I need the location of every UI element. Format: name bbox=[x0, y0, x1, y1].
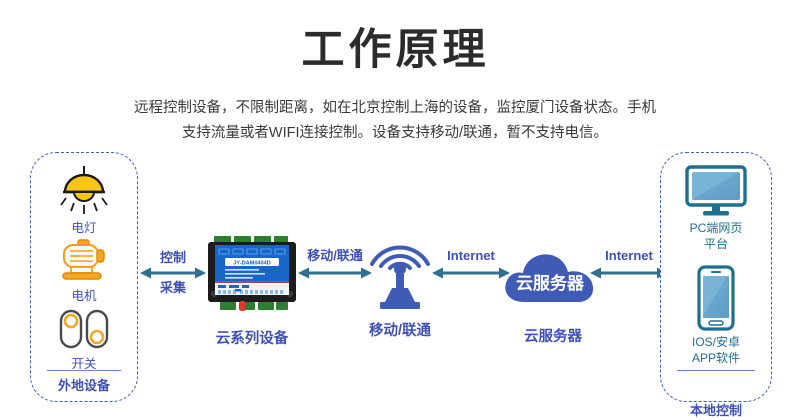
arrow-internet-left-label: Internet bbox=[432, 248, 510, 264]
switch-icon bbox=[57, 309, 111, 353]
lamp-icon bbox=[56, 165, 112, 217]
arrow-internet-left: Internet bbox=[432, 248, 510, 280]
left-panel-divider bbox=[47, 370, 121, 372]
device-pc-label-line1: PC端网页 bbox=[661, 220, 771, 236]
bidirectional-arrow-icon bbox=[432, 266, 510, 280]
right-panel-footer-label: 本地控制 bbox=[660, 400, 772, 420]
device-app-label-line1: IOS/安卓 bbox=[661, 334, 771, 350]
device-pc-web-platform: PC端网页 平台 bbox=[661, 165, 771, 252]
page-description: 远程控制设备，不限制距离，如在北京控制上海的设备，监控厦门设备状态。手机 支持流… bbox=[95, 96, 695, 147]
device-switch: 开关 bbox=[31, 309, 137, 373]
right-panel-divider bbox=[677, 370, 755, 372]
monitor-icon bbox=[685, 165, 747, 217]
local-control-panel: PC端网页 平台 bbox=[660, 152, 772, 402]
cloud-inner-text: 云服务器 bbox=[516, 273, 585, 293]
arrow-internet-right: Internet bbox=[590, 248, 668, 280]
dam-module-caption: 云系列设备 bbox=[206, 327, 298, 348]
device-motor: 电机 bbox=[31, 237, 137, 305]
arrow-collect-label: 采集 bbox=[140, 280, 206, 296]
motor-icon bbox=[57, 237, 111, 285]
bidirectional-arrow-icon bbox=[140, 266, 206, 280]
arrow-internet-right-label: Internet bbox=[590, 248, 668, 264]
antenna-caption: 移动/联通 bbox=[358, 319, 442, 340]
device-motor-label: 电机 bbox=[31, 288, 137, 305]
left-panel-footer-label: 外地设备 bbox=[31, 375, 137, 394]
antenna-node: 移动/联通 bbox=[358, 214, 442, 340]
dam-module-model-text: JY-DAM0404D bbox=[233, 260, 271, 266]
bidirectional-arrow-icon bbox=[590, 266, 668, 280]
remote-devices-panel: 电灯 电机 bbox=[30, 152, 138, 402]
device-mobile-app: IOS/安卓 APP软件 bbox=[661, 265, 771, 366]
cloud-server-caption: 云服务器 bbox=[500, 325, 606, 346]
antenna-tower-icon bbox=[358, 214, 442, 310]
device-lamp: 电灯 bbox=[31, 165, 137, 237]
device-pc-label-line2: 平台 bbox=[661, 236, 771, 252]
device-app-label-line2: APP软件 bbox=[661, 350, 771, 366]
dam-module-icon: JY-DAM0404D bbox=[206, 236, 298, 314]
device-lamp-label: 电灯 bbox=[31, 220, 137, 237]
page-title: 工作原理 bbox=[0, 26, 791, 75]
description-line-2: 支持流量或者WIFI连接控制。设备支持移动/联通，暂不支持电信。 bbox=[95, 121, 695, 146]
dam-module: JY-DAM0404D bbox=[206, 236, 298, 314]
arrow-control-collect: 控制 采集 bbox=[140, 250, 206, 297]
diagram-canvas: 工作原理 远程控制设备，不限制距离，如在北京控制上海的设备，监控厦门设备状态。手… bbox=[0, 0, 791, 420]
description-line-1: 远程控制设备，不限制距离，如在北京控制上海的设备，监控厦门设备状态。手机 bbox=[95, 96, 695, 121]
smartphone-icon bbox=[697, 265, 735, 331]
arrow-control-label: 控制 bbox=[140, 250, 206, 266]
